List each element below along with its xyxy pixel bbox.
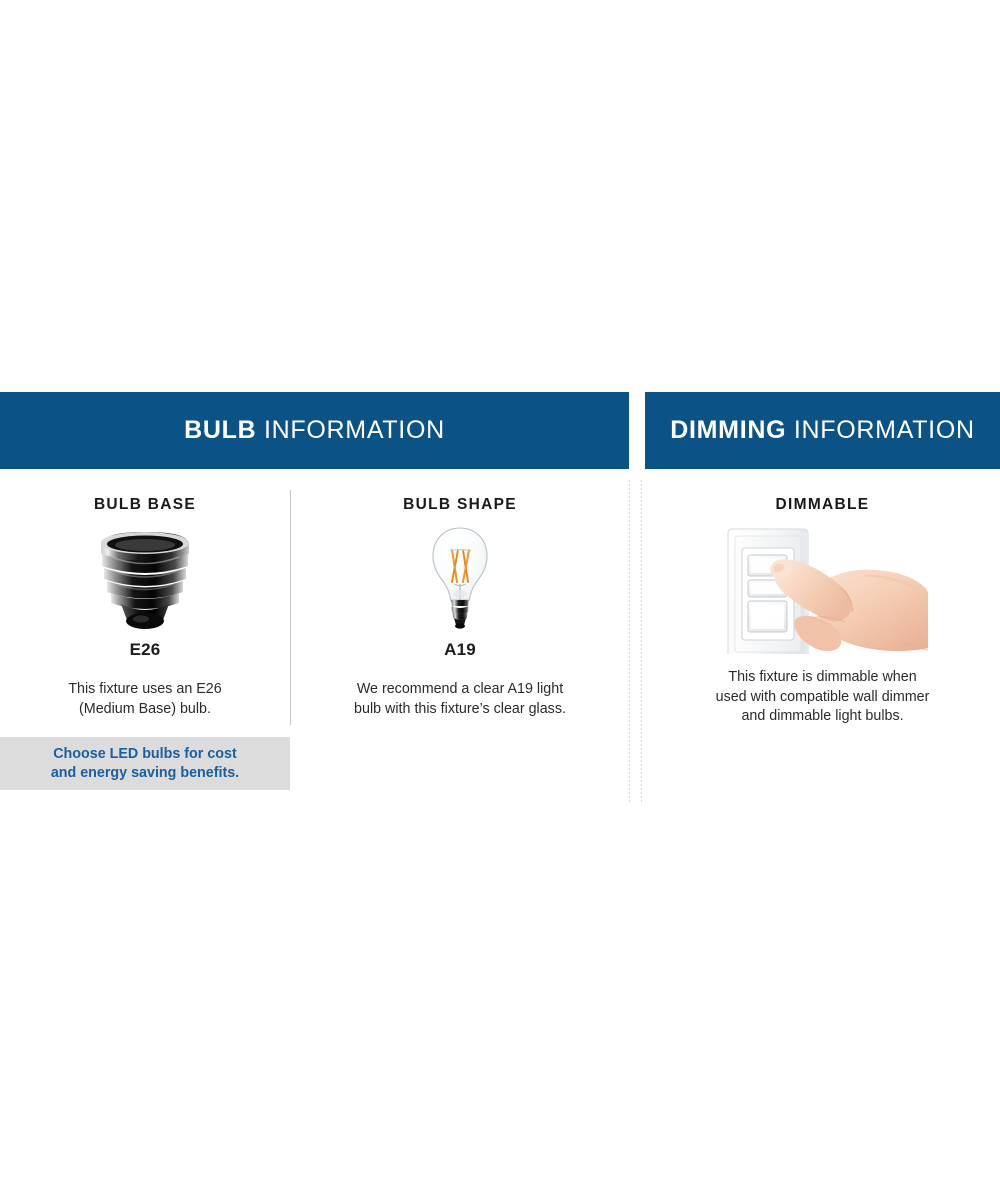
bulb-base-figure bbox=[0, 524, 290, 636]
bulb-shape-figure bbox=[300, 524, 620, 636]
dimming-information-header: DIMMING INFORMATION bbox=[645, 392, 1000, 469]
a19-light-bulb-icon bbox=[424, 524, 496, 636]
bulb-base-title: BULB BASE bbox=[0, 496, 290, 514]
dimming-information-header-rest: INFORMATION bbox=[786, 416, 974, 444]
bulb-information-header-text: BULB INFORMATION bbox=[184, 416, 445, 445]
bulb-base-description-line: This fixture uses an E26 bbox=[0, 680, 290, 700]
led-tip-text: Choose LED bulbs for cost and energy sav… bbox=[51, 745, 239, 783]
bulb-base-description: This fixture uses an E26 (Medium Base) b… bbox=[0, 680, 290, 719]
bulb-shape-column: BULB SHAPE bbox=[300, 469, 620, 814]
bulb-shape-description-line: bulb with this fixture’s clear glass. bbox=[300, 700, 620, 720]
dimmable-description: This fixture is dimmable when used with … bbox=[645, 668, 1000, 727]
e26-screw-base-icon bbox=[87, 524, 203, 634]
bulb-shape-description: We recommend a clear A19 light bulb with… bbox=[300, 680, 620, 719]
bulb-information-header-strong: BULB bbox=[184, 416, 256, 444]
bulb-and-dimming-information-panel: BULB INFORMATION DIMMING INFORMATION BUL… bbox=[0, 0, 1000, 1200]
led-tip-line: Choose LED bulbs for cost bbox=[51, 745, 239, 764]
panel-dotted-divider-right bbox=[641, 480, 642, 802]
dimmable-column: DIMMABLE bbox=[645, 469, 1000, 814]
wall-dimmer-switch-with-hand-icon bbox=[715, 522, 930, 654]
bulb-information-header-rest: INFORMATION bbox=[256, 416, 444, 444]
bulb-base-value: E26 bbox=[0, 640, 290, 660]
dimmable-description-line: This fixture is dimmable when bbox=[645, 668, 1000, 688]
dimmable-description-line: and dimmable light bulbs. bbox=[645, 707, 1000, 727]
bulb-shape-description-line: We recommend a clear A19 light bbox=[300, 680, 620, 700]
bulb-shape-value: A19 bbox=[300, 640, 620, 660]
dimming-information-header-text: DIMMING INFORMATION bbox=[670, 416, 974, 445]
bulb-information-header: BULB INFORMATION bbox=[0, 392, 629, 469]
led-tip-line: and energy saving benefits. bbox=[51, 764, 239, 783]
bulb-columns-divider bbox=[290, 490, 291, 725]
bulb-shape-title: BULB SHAPE bbox=[300, 496, 620, 514]
bulb-base-description-line: (Medium Base) bulb. bbox=[0, 700, 290, 720]
panel-dotted-divider-left bbox=[629, 480, 630, 802]
dimmable-figure bbox=[645, 522, 1000, 652]
dimming-information-panel: DIMMABLE bbox=[645, 469, 1000, 814]
dimmable-title: DIMMABLE bbox=[645, 496, 1000, 514]
led-tip-box: Choose LED bulbs for cost and energy sav… bbox=[0, 737, 290, 790]
dimmable-description-line: used with compatible wall dimmer bbox=[645, 688, 1000, 708]
dimming-information-header-strong: DIMMING bbox=[670, 416, 786, 444]
